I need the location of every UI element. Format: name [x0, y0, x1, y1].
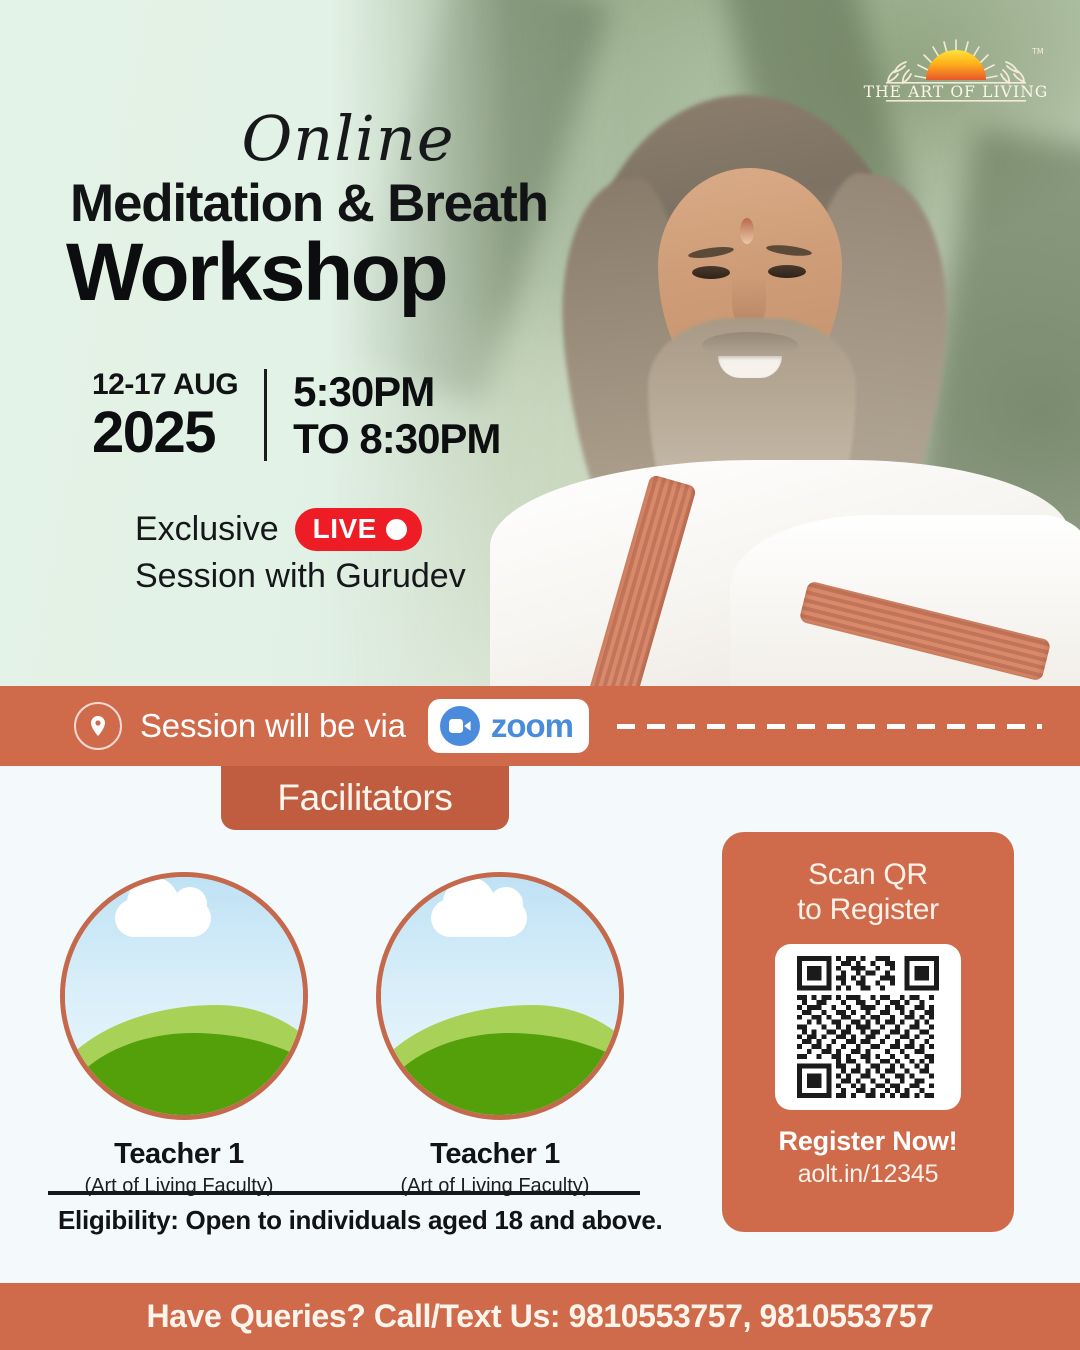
- facilitator-name: Teacher 1: [60, 1138, 298, 1171]
- art-of-living-logo: THE ART OF LIVING TM: [862, 34, 1050, 112]
- exclusive-subtitle: Session with Gurudev: [135, 557, 466, 596]
- facilitators-tab: Facilitators: [221, 766, 509, 830]
- location-pin-icon: [74, 702, 122, 750]
- facilitator-avatar-placeholder-image: [60, 872, 308, 1120]
- exclusive-live-block: Exclusive LIVE Session with Gurudev: [135, 508, 466, 596]
- svg-text:TM: TM: [1031, 47, 1044, 56]
- eligibility-divider: [48, 1191, 640, 1195]
- zoom-logo: zoom: [428, 699, 589, 753]
- session-platform-banner: Session will be via zoom: [0, 686, 1080, 766]
- headline-block: Online Meditation & Breath Workshop: [70, 108, 590, 313]
- qr-code-image[interactable]: [775, 944, 961, 1110]
- time-start: 5:30PM: [293, 368, 500, 415]
- facilitators-tab-label: Facilitators: [277, 777, 452, 819]
- contact-footer-text[interactable]: Have Queries? Call/Text Us: 9810553757, …: [146, 1298, 933, 1335]
- title-line-2: Workshop: [66, 233, 590, 313]
- zoom-wordmark: zoom: [491, 707, 573, 745]
- contact-footer-bar: Have Queries? Call/Text Us: 9810553757, …: [0, 1283, 1080, 1350]
- date-days: 12-17 AUG: [92, 368, 238, 402]
- qr-title-line-1: Scan QR: [808, 858, 928, 891]
- svg-text:THE ART OF LIVING: THE ART OF LIVING: [864, 83, 1049, 101]
- eligibility-text: Eligibility: Open to individuals aged 18…: [58, 1205, 678, 1236]
- banner-text: Session will be via: [140, 707, 406, 745]
- live-dot-icon: [386, 519, 407, 540]
- facilitator-avatar-placeholder-image: [376, 872, 624, 1120]
- qr-register-card[interactable]: Scan QR to Register: [722, 832, 1014, 1232]
- date-year: 2025: [92, 404, 238, 462]
- date-block: 12-17 AUG 2025: [92, 368, 264, 462]
- kicker-online: Online: [106, 108, 590, 170]
- date-time-block: 12-17 AUG 2025 5:30PM TO 8:30PM: [92, 368, 500, 462]
- register-url[interactable]: aolt.in/12345: [798, 1160, 939, 1189]
- facilitator-card: Teacher 1 (Art of Living Faculty): [376, 872, 614, 1198]
- dashed-divider: [617, 724, 1042, 729]
- register-now-label: Register Now!: [779, 1126, 958, 1157]
- live-label: LIVE: [313, 513, 377, 545]
- qr-title: Scan QR to Register: [797, 858, 939, 928]
- exclusive-label: Exclusive: [135, 510, 279, 549]
- title-line-1: Meditation & Breath: [70, 176, 590, 231]
- facilitators-list: Teacher 1 (Art of Living Faculty) Teache…: [60, 872, 614, 1198]
- live-badge: LIVE: [295, 508, 422, 551]
- time-end: TO 8:30PM: [293, 415, 500, 462]
- zoom-camera-icon: [440, 706, 480, 746]
- qr-title-line-2: to Register: [797, 893, 939, 926]
- time-block: 5:30PM TO 8:30PM: [267, 368, 500, 462]
- poster-canvas: THE ART OF LIVING TM Online Meditation &…: [0, 0, 1080, 1350]
- facilitator-card: Teacher 1 (Art of Living Faculty): [60, 872, 298, 1198]
- facilitator-name: Teacher 1: [376, 1138, 614, 1171]
